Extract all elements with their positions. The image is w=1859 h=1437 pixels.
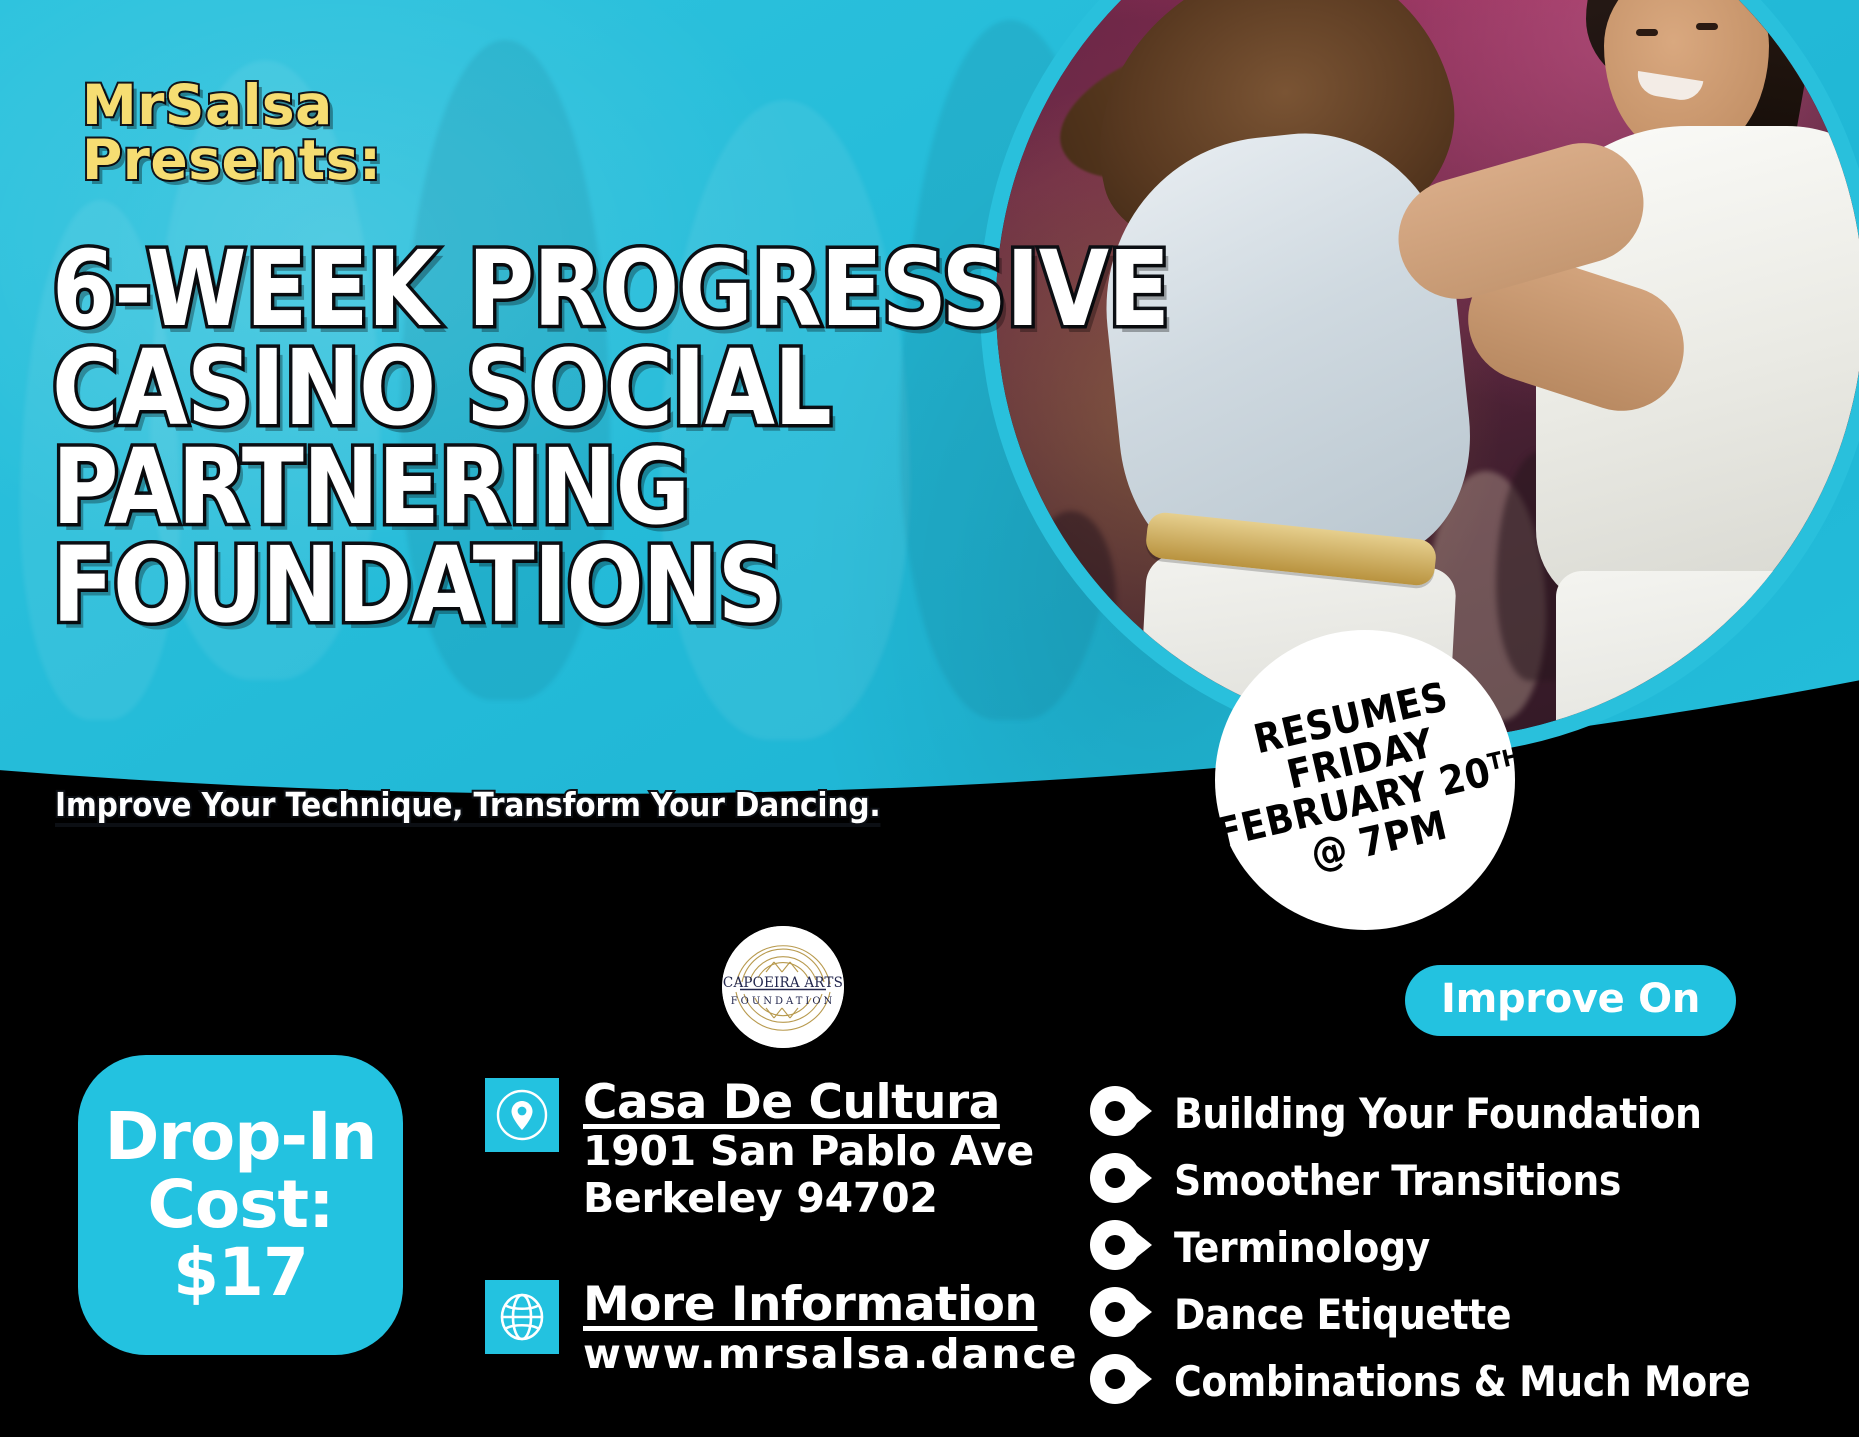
list-item-label: Dance Etiquette <box>1174 1290 1511 1339</box>
website-text: More Information www.mrsalsa.dance <box>583 1280 1079 1379</box>
location-pin-icon <box>485 1078 559 1152</box>
headline-line-3: PARTNERING <box>52 438 1100 537</box>
headline-line-4: FOUNDATIONS <box>52 536 1100 635</box>
list-item: Dance Etiquette <box>1090 1281 1850 1348</box>
website-url[interactable]: www.mrsalsa.dance <box>583 1330 1079 1379</box>
photo-man-eye <box>1696 23 1718 30</box>
website-info[interactable]: More Information www.mrsalsa.dance <box>485 1280 1079 1379</box>
venue-street: 1901 San Pablo Ave <box>583 1128 1034 1175</box>
arrow-bullet-icon <box>1090 1153 1154 1208</box>
improve-on-heading: Improve On <box>1405 965 1736 1036</box>
list-item: Combinations & Much More <box>1090 1348 1850 1415</box>
headline-line-2: CASINO SOCIAL <box>52 339 1100 438</box>
location-pin-glyph <box>492 1085 552 1145</box>
logo-line-1: CAPOEIRA ARTS <box>723 975 843 991</box>
venue-name: Casa De Cultura <box>583 1078 1034 1128</box>
resumes-badge-text: RESUMES FRIDAY FEBRUARY 20TH @ 7PM <box>1194 664 1536 896</box>
venue-city: Berkeley 94702 <box>583 1175 1034 1222</box>
arrow-bullet-icon <box>1090 1354 1154 1409</box>
arrow-bullet-icon <box>1090 1086 1154 1141</box>
brand-name: MrSalsa <box>82 78 381 133</box>
list-item-label: Terminology <box>1174 1223 1430 1272</box>
photo-man-pants <box>1556 571 1859 755</box>
page-title: 6-WEEK PROGRESSIVE CASINO SOCIAL PARTNER… <box>52 240 1132 635</box>
photo-man-eye <box>1636 29 1658 36</box>
cost-label-line-2: Cost: <box>147 1171 333 1239</box>
improve-on-list: Building Your Foundation Smoother Transi… <box>1090 1080 1850 1415</box>
list-item: Terminology <box>1090 1214 1850 1281</box>
tagline: Improve Your Technique, Transform Your D… <box>55 785 880 824</box>
website-title: More Information <box>583 1280 1079 1330</box>
venue-text: Casa De Cultura 1901 San Pablo Ave Berke… <box>583 1078 1034 1221</box>
venue-info: Casa De Cultura 1901 San Pablo Ave Berke… <box>485 1078 1034 1221</box>
capoeira-arts-foundation-logo: CAPOEIRA ARTS FOUNDATION <box>722 926 844 1048</box>
list-item-label: Combinations & Much More <box>1174 1357 1750 1406</box>
globe-glyph <box>493 1288 551 1346</box>
list-item-label: Smoother Transitions <box>1174 1156 1621 1205</box>
resumes-badge: RESUMES FRIDAY FEBRUARY 20TH @ 7PM <box>1215 630 1515 930</box>
flyer-poster: MrSalsa Presents: 6-WEEK PROGRESSIVE CAS… <box>0 0 1859 1437</box>
drop-in-cost-box: Drop-In Cost: $17 <box>78 1055 403 1355</box>
brand-presents: MrSalsa Presents: <box>82 78 381 188</box>
headline-line-1: 6-WEEK PROGRESSIVE <box>52 240 1100 339</box>
arrow-bullet-icon <box>1090 1287 1154 1342</box>
list-item-label: Building Your Foundation <box>1174 1089 1702 1138</box>
list-item: Smoother Transitions <box>1090 1147 1850 1214</box>
list-item: Building Your Foundation <box>1090 1080 1850 1147</box>
arrow-bullet-icon <box>1090 1220 1154 1275</box>
globe-icon <box>485 1280 559 1354</box>
brand-presents-word: Presents: <box>82 133 381 188</box>
logo-line-2: FOUNDATION <box>731 996 836 1007</box>
cost-amount: $17 <box>173 1239 308 1307</box>
cost-label-line-1: Drop-In <box>105 1103 377 1171</box>
logo-artwork: CAPOEIRA ARTS FOUNDATION <box>722 926 844 1048</box>
